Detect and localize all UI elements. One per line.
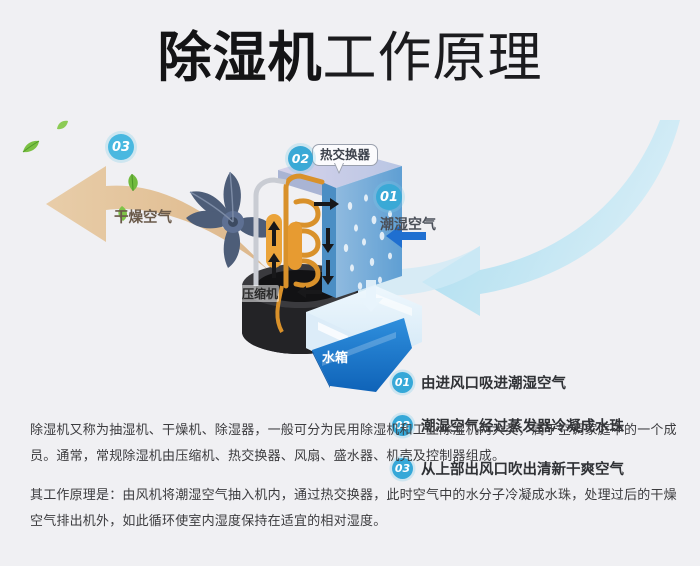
leaf-icon bbox=[56, 120, 69, 130]
diagram-badge-02: 02 bbox=[288, 146, 313, 171]
diagram-badge-03: 03 bbox=[108, 134, 134, 160]
callout-tail-icon bbox=[334, 163, 344, 174]
body-paragraph-1: 除湿机又称为抽湿机、干燥机、除湿器，一般可分为民用除湿机和工业除湿机两大类，属于… bbox=[30, 418, 680, 470]
page-title-strong: 除湿机 bbox=[158, 26, 323, 89]
leaf-icon bbox=[126, 174, 141, 192]
legend-text-01: 由进风口吸进潮湿空气 bbox=[421, 372, 566, 393]
heat-exchanger-callout: 热交换器 bbox=[312, 144, 378, 166]
humid-air-label: 潮湿空气 bbox=[380, 214, 436, 234]
diagram-badge-01: 01 bbox=[376, 184, 402, 210]
body-copy: 除湿机又称为抽湿机、干燥机、除湿器，一般可分为民用除湿机和工业除湿机两大类，属于… bbox=[30, 418, 680, 535]
dry-air-label: 干燥空气 bbox=[114, 206, 172, 227]
water-tank-label: 水箱 bbox=[322, 347, 348, 366]
page-title: 除湿机工作原理 bbox=[0, 28, 700, 88]
page-title-light: 工作原理 bbox=[323, 26, 543, 89]
legend-item: 01 由进风口吸进潮湿空气 bbox=[392, 371, 692, 393]
leaf-icon bbox=[22, 140, 40, 154]
diagram-stage: 热交换器 03 02 01 干燥空气 潮湿空气 压缩机 水箱 01 由进风口吸进… bbox=[0, 118, 700, 408]
legend-badge-01: 01 bbox=[392, 372, 413, 393]
body-paragraph-2: 其工作原理是：由风机将潮湿空气抽入机内，通过热交换器，此时空气中的水分子冷凝成水… bbox=[30, 483, 680, 535]
compressor-label: 压缩机 bbox=[241, 285, 279, 302]
heat-exchanger-callout-label: 热交换器 bbox=[320, 147, 370, 162]
infographic-page: 除湿机工作原理 bbox=[0, 0, 700, 566]
